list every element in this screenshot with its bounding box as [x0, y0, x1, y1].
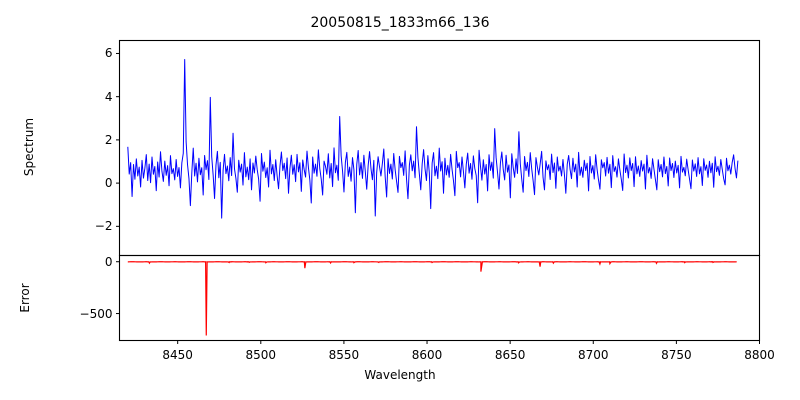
spectrum-ytick-label: −2 — [67, 219, 113, 233]
error-line — [128, 262, 737, 336]
spectrum-axis-label: Spectrum — [22, 97, 36, 197]
spectrum-ytick-label: 2 — [67, 133, 113, 147]
error-ytick-label: −500 — [67, 307, 113, 321]
page-title: 20050815_1833m66_136 — [0, 15, 800, 31]
axes-frames — [120, 41, 760, 341]
axis-ticks — [116, 53, 760, 344]
xtick-label: 8450 — [162, 348, 193, 362]
xtick-label: 8750 — [661, 348, 692, 362]
xtick-label: 8800 — [744, 348, 775, 362]
wavelength-axis-label: Wavelength — [0, 368, 800, 382]
matplotlib-figure: 20050815_1833m66_136 Spectrum Error Wave… — [0, 0, 800, 400]
error-ytick-label: 0 — [67, 255, 113, 269]
xtick-label: 8600 — [412, 348, 443, 362]
xtick-label: 8650 — [495, 348, 526, 362]
xtick-label: 8550 — [329, 348, 360, 362]
spectrum-ytick-label: 6 — [67, 46, 113, 60]
spectrum-trace — [128, 60, 738, 219]
plot-canvas — [0, 0, 800, 400]
xtick-label: 8700 — [578, 348, 609, 362]
error-axis-label: Error — [18, 263, 32, 333]
xtick-label: 8500 — [246, 348, 277, 362]
spectrum-line — [128, 60, 738, 219]
spectrum-ytick-label: 4 — [67, 90, 113, 104]
error-trace — [128, 262, 737, 336]
spectrum-ytick-label: 0 — [67, 176, 113, 190]
